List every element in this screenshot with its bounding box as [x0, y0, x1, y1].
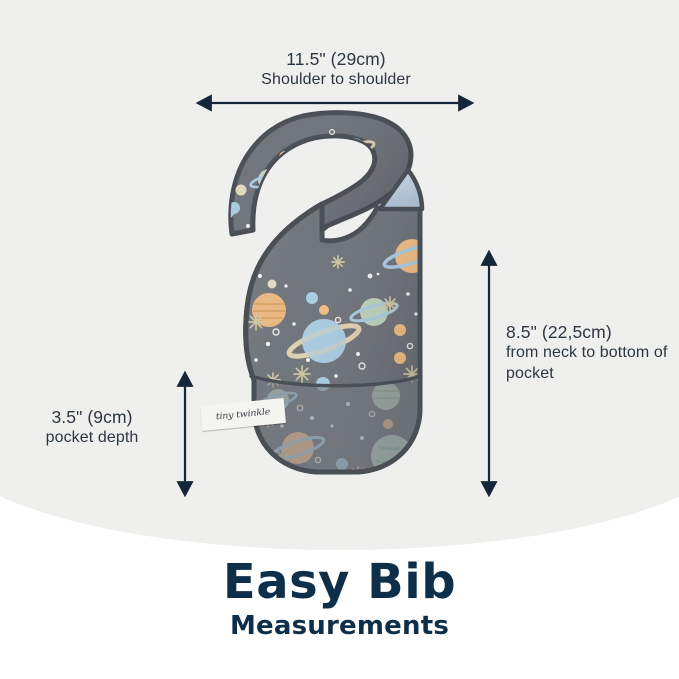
- width-measurement-value: 11.5" (29cm): [205, 48, 467, 70]
- title-main: Easy Bib: [0, 558, 679, 608]
- width-measurement-label: 11.5" (29cm) Shoulder to shoulder: [205, 48, 467, 91]
- pocket-measurement-description: pocket depth: [8, 428, 176, 448]
- title-block: Easy Bib Measurements: [0, 558, 679, 641]
- height-measurement-value: 8.5" (22,5cm): [506, 321, 671, 343]
- pocket-measurement-label: 3.5" (9cm) pocket depth: [8, 406, 176, 449]
- height-measurement-description: from neck to bottom of pocket: [506, 343, 671, 384]
- bib-body: [195, 198, 441, 488]
- pocket-measurement-value: 3.5" (9cm): [8, 406, 176, 428]
- height-measurement-label: 8.5" (22,5cm) from neck to bottom of poc…: [506, 321, 671, 384]
- brand-logo-text: tiny twinkle: [215, 407, 270, 422]
- diagram-canvas: tiny twinkle 11.5" (29cm) Shoulder to sh…: [0, 0, 679, 679]
- title-subtitle: Measurements: [0, 611, 679, 641]
- bib-illustration: [172, 108, 472, 488]
- width-measurement-description: Shoulder to shoulder: [205, 70, 467, 90]
